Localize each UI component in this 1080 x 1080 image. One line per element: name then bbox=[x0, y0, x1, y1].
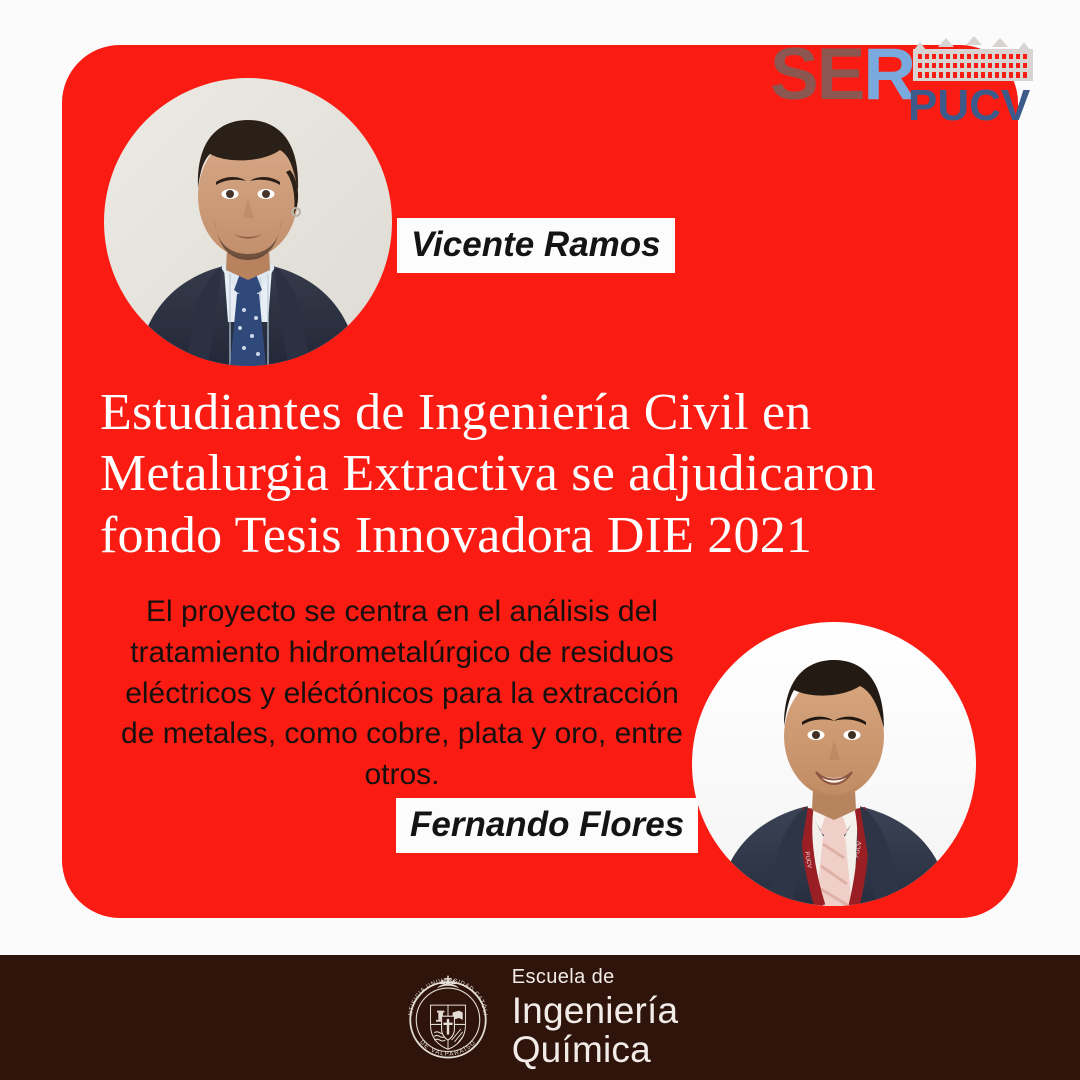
body-paragraph: El proyecto se centra en el análisis del… bbox=[112, 592, 692, 796]
headline: Estudiantes de Ingeniería Civil en Metal… bbox=[100, 382, 960, 566]
pucv-seal-icon: PONTIFICIA UNIVERSIDAD CATÓLICA DE VALPA… bbox=[402, 972, 494, 1064]
footer-line-escuela: Escuela de bbox=[512, 967, 679, 987]
name-badge-vicente-ramos: Vicente Ramos bbox=[397, 218, 675, 273]
ser-wordmark-se: SE bbox=[770, 34, 863, 115]
poster-canvas: SER bbox=[0, 0, 1080, 1080]
footer-line-quimica: Química bbox=[512, 1031, 679, 1068]
pucv-wordmark: PUCV bbox=[908, 84, 1030, 128]
footer-bar: PONTIFICIA UNIVERSIDAD CATÓLICA DE VALPA… bbox=[0, 955, 1080, 1080]
avatar-vicente-ramos bbox=[104, 78, 392, 366]
pucv-building-icon bbox=[912, 34, 1034, 84]
ser-wordmark-r: R bbox=[863, 34, 914, 115]
footer-line-ingenieria: Ingeniería bbox=[512, 992, 679, 1029]
ser-wordmark: SER bbox=[770, 38, 914, 111]
name-badge-fernando-flores: Fernando Flores bbox=[396, 798, 698, 853]
footer-school-name: Escuela de Ingeniería Química bbox=[512, 967, 679, 1068]
svg-text:PONTIFICIA UNIVERSIDAD CATÓLIC: PONTIFICIA UNIVERSIDAD CATÓLICA bbox=[402, 972, 488, 1016]
ser-pucv-logo: SER bbox=[770, 32, 1030, 132]
avatar-fernando-flores: PUCV PUCV bbox=[692, 622, 976, 906]
